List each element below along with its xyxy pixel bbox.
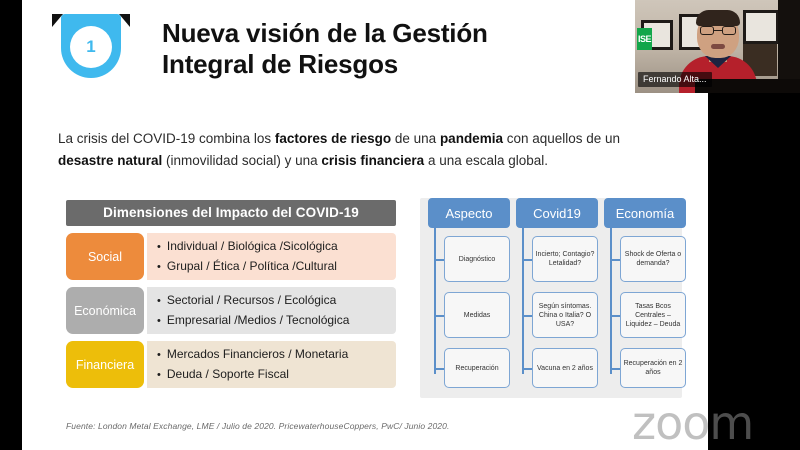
source-footnote: Fuente: London Metal Exchange, LME / Jul… <box>66 421 449 431</box>
dimension-item: Empresarial /Medios / Tecnológica <box>157 311 396 331</box>
page-title-line2: Integral de Riesgos <box>162 49 632 80</box>
flow-node: Vacuna en 2 años <box>532 348 598 388</box>
flow-connector-spine <box>522 228 524 374</box>
lead-text-5: a una escala global. <box>424 153 548 168</box>
participant-mouth <box>711 44 725 49</box>
glasses-lens-left <box>700 26 714 35</box>
flow-connector-stub <box>434 315 444 317</box>
flow-node: Recuperación en 2 años <box>620 348 686 388</box>
lead-text-3: con aquellos de un <box>503 131 620 146</box>
dimension-items: Sectorial / Recursos / EcológicaEmpresar… <box>147 287 396 334</box>
badge-number: 1 <box>70 26 112 68</box>
flow-node: Shock de Oferta o demanda? <box>620 236 686 282</box>
dimension-item: Individual / Biológica /Sicológica <box>157 237 396 257</box>
flow-node: Tasas Bcos Centrales – Liquidez – Deuda <box>620 292 686 338</box>
participant-name-label: Fernando Alta... <box>638 72 712 87</box>
flow-column-header: Covid19 <box>516 198 598 228</box>
flow-connector-spine <box>434 228 436 374</box>
dimensions-panel-header: Dimensiones del Impacto del COVID-19 <box>66 200 396 226</box>
flow-connector-stub <box>434 368 444 370</box>
page-title-line1: Nueva visión de la Gestión <box>162 18 632 49</box>
wall-picture-frame <box>743 10 779 44</box>
flow-connector-stub <box>610 368 620 370</box>
flow-column: EconomíaShock de Oferta o demanda?Tasas … <box>604 198 686 228</box>
flow-column-header: Aspecto <box>428 198 510 228</box>
flow-node: Según síntomas. China o Italia? O USA? <box>532 292 598 338</box>
glasses-lens-right <box>722 26 736 35</box>
flow-column: AspectoDiagnósticoMedidasRecuperación <box>428 198 510 228</box>
flow-node: Incierto; Contagio? Letalidad? <box>532 236 598 282</box>
lead-bold-3: desastre natural <box>58 153 162 168</box>
lead-paragraph: La crisis del COVID-19 combina los facto… <box>58 128 658 172</box>
flow-connector-stub <box>610 259 620 261</box>
dimension-row: EconómicaSectorial / Recursos / Ecológic… <box>66 287 396 334</box>
flow-connector-stub <box>434 259 444 261</box>
presentation-slide: 1 Nueva visión de la Gestión Integral de… <box>22 0 708 450</box>
lead-bold-4: crisis financiera <box>321 153 424 168</box>
flow-column-header: Economía <box>604 198 686 228</box>
participant-video-tile[interactable]: ISE Fernando Alta... <box>635 0 800 93</box>
dimension-item: Deuda / Soporte Fiscal <box>157 365 396 385</box>
lead-text-2: de una <box>391 131 440 146</box>
step-badge-icon: 1 <box>52 8 130 84</box>
flow-connector-stub <box>610 315 620 317</box>
flow-node: Diagnóstico <box>444 236 510 282</box>
dimension-items: Individual / Biológica /SicológicaGrupal… <box>147 233 396 280</box>
page-title: Nueva visión de la Gestión Integral de R… <box>162 18 632 80</box>
dimension-row: SocialIndividual / Biológica /Sicológica… <box>66 233 396 280</box>
dimension-item: Mercados Financieros / Monetaria <box>157 345 396 365</box>
ise-logo: ISE <box>637 28 652 50</box>
dimension-tag: Financiera <box>66 341 144 388</box>
participant-hair <box>696 10 740 26</box>
lead-text-4: (inmovilidad social) y una <box>162 153 321 168</box>
flow-connector-stub <box>522 368 532 370</box>
flow-connector-stub <box>522 315 532 317</box>
flow-column: Covid19Incierto; Contagio? Letalidad?Seg… <box>516 198 598 228</box>
dimensions-panel: Dimensiones del Impacto del COVID-19 Soc… <box>66 200 396 388</box>
dimension-tag: Económica <box>66 287 144 334</box>
glasses-icon <box>699 26 737 35</box>
glasses-bridge <box>714 30 722 31</box>
flow-node: Medidas <box>444 292 510 338</box>
dimension-row: FinancieraMercados Financieros / Monetar… <box>66 341 396 388</box>
dimension-item: Sectorial / Recursos / Ecológica <box>157 291 396 311</box>
flow-connector-spine <box>610 228 612 374</box>
impact-flowchart: AspectoDiagnósticoMedidasRecuperaciónCov… <box>420 198 682 398</box>
flow-node: Recuperación <box>444 348 510 388</box>
dimension-item: Grupal / Ética / Política /Cultural <box>157 257 396 277</box>
zoom-meeting-screen: 1 Nueva visión de la Gestión Integral de… <box>0 0 800 450</box>
lead-bold-1: factores de riesgo <box>275 131 391 146</box>
dimensions-row-list: SocialIndividual / Biológica /Sicológica… <box>66 233 396 388</box>
dimension-items: Mercados Financieros / MonetariaDeuda / … <box>147 341 396 388</box>
flow-connector-stub <box>522 259 532 261</box>
lead-text-1: La crisis del COVID-19 combina los <box>58 131 275 146</box>
dimension-tag: Social <box>66 233 144 280</box>
lead-bold-2: pandemia <box>440 131 503 146</box>
